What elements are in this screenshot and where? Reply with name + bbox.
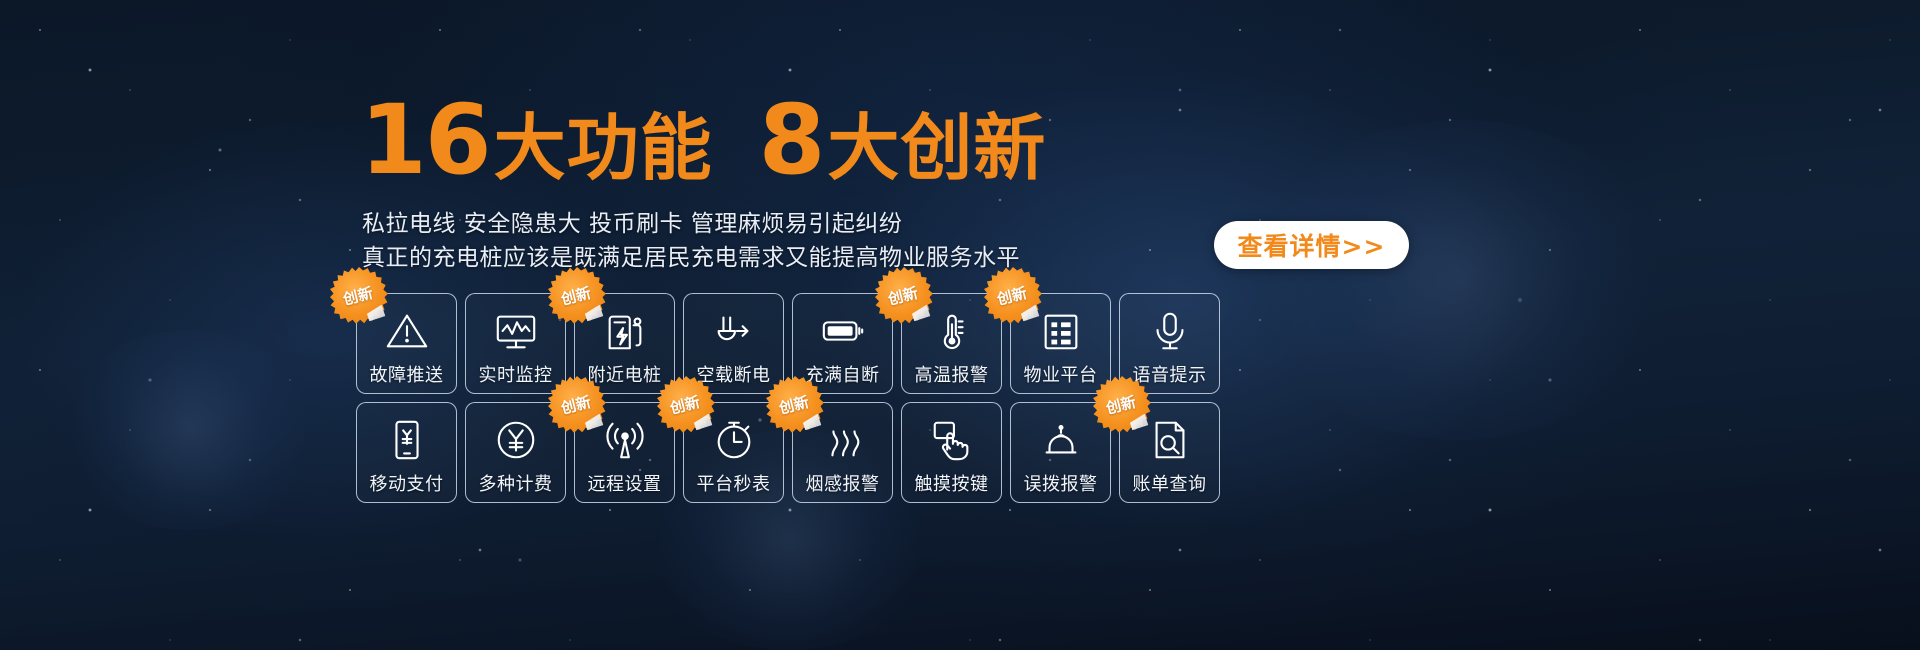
feature-card-label: 空载断电 xyxy=(697,361,771,387)
battery-full-icon xyxy=(820,308,866,354)
feature-card-label: 高温报警 xyxy=(915,361,989,387)
feature-card[interactable]: 空载断电 xyxy=(683,293,784,394)
smoke-sensor-icon xyxy=(820,417,866,463)
badge-fold-icon xyxy=(802,414,822,431)
thermometer-icon xyxy=(929,308,975,354)
starburst-icon xyxy=(330,267,388,325)
badge-fold-icon xyxy=(584,414,604,431)
mobile-payment-icon xyxy=(384,417,430,463)
feature-card-label: 远程设置 xyxy=(588,470,662,496)
feature-card[interactable]: 创新远程设置 xyxy=(574,402,675,503)
feature-card[interactable]: 充满自断 xyxy=(792,293,893,394)
feature-card[interactable]: 创新物业平台 xyxy=(1010,293,1111,394)
nebula-glow xyxy=(1250,120,1670,440)
alarm-bell-icon xyxy=(1038,417,1084,463)
feature-card-label: 多种计费 xyxy=(479,470,553,496)
badge-fold-icon xyxy=(911,305,931,322)
monitor-waveform-icon xyxy=(493,308,539,354)
feature-card[interactable]: 多种计费 xyxy=(465,402,566,503)
touch-hand-icon xyxy=(929,417,975,463)
feature-card-label: 误拨报警 xyxy=(1024,470,1098,496)
promo-banner: 16 大功能 8 大创新 私拉电线 安全隐患大 投币刷卡 管理麻烦易引起纠纷 真… xyxy=(0,0,1920,650)
bill-search-icon xyxy=(1147,417,1193,463)
innovation-badge: 创新 xyxy=(330,267,388,325)
nebula-glow xyxy=(60,330,320,530)
feature-card-label: 故障推送 xyxy=(370,361,444,387)
feature-card-label: 触摸按键 xyxy=(915,470,989,496)
feature-card-label: 平台秒表 xyxy=(697,470,771,496)
stopwatch-icon xyxy=(711,417,757,463)
headline-innovation-label: 大创新 xyxy=(827,112,1046,184)
feature-card-label: 充满自断 xyxy=(806,361,880,387)
feature-card[interactable]: 创新烟感报警 xyxy=(792,402,893,503)
feature-card[interactable]: 误拨报警 xyxy=(1010,402,1111,503)
view-details-button[interactable]: 查看详情>> xyxy=(1214,221,1409,269)
view-details-label: 查看详情>> xyxy=(1238,227,1386,263)
feature-card[interactable]: 触摸按键 xyxy=(901,402,1002,503)
warning-triangle-icon xyxy=(384,308,430,354)
feature-card-label: 烟感报警 xyxy=(806,470,880,496)
feature-card[interactable]: 创新账单查询 xyxy=(1119,402,1220,503)
subtitle-line-1: 私拉电线 安全隐患大 投币刷卡 管理麻烦易引起纠纷 xyxy=(362,207,1020,241)
badge-fold-icon xyxy=(1129,414,1149,431)
headline-function-label: 大功能 xyxy=(494,112,713,184)
headline-function-count: 16 xyxy=(360,92,490,188)
subtitle-block: 私拉电线 安全隐患大 投币刷卡 管理麻烦易引起纠纷 真正的充电桩应该是既满足居民… xyxy=(362,207,1020,275)
feature-card[interactable]: 实时监控 xyxy=(465,293,566,394)
yuan-coin-icon xyxy=(493,417,539,463)
feature-card[interactable]: 创新故障推送 xyxy=(356,293,457,394)
feature-grid: 创新故障推送实时监控创新附近电桩空载断电充满自断创新高温报警创新物业平台语音提示… xyxy=(356,293,1220,503)
feature-row-2: 移动支付多种计费创新远程设置创新平台秒表创新烟感报警触摸按键误拨报警创新账单查询 xyxy=(356,402,1220,503)
badge-fold-icon xyxy=(584,305,604,322)
badge-fold-icon xyxy=(693,414,713,431)
feature-card-label: 移动支付 xyxy=(370,470,444,496)
subtitle-line-2: 真正的充电桩应该是既满足居民充电需求又能提高物业服务水平 xyxy=(362,241,1020,275)
feature-card-label: 实时监控 xyxy=(479,361,553,387)
headline: 16 大功能 8 大创新 xyxy=(360,92,1046,188)
feature-card[interactable]: 移动支付 xyxy=(356,402,457,503)
feature-row-1: 创新故障推送实时监控创新附近电桩空载断电充满自断创新高温报警创新物业平台语音提示 xyxy=(356,293,1220,394)
feature-card[interactable]: 创新高温报警 xyxy=(901,293,1002,394)
feature-card-label: 语音提示 xyxy=(1133,361,1207,387)
badge-fold-icon xyxy=(1020,305,1040,322)
feature-card-label: 附近电桩 xyxy=(588,361,662,387)
feature-card-label: 物业平台 xyxy=(1024,361,1098,387)
feature-card-label: 账单查询 xyxy=(1133,470,1207,496)
feature-card[interactable]: 创新附近电桩 xyxy=(574,293,675,394)
feature-card[interactable]: 语音提示 xyxy=(1119,293,1220,394)
microphone-icon xyxy=(1147,308,1193,354)
building-icon xyxy=(1038,308,1084,354)
badge-fold-icon xyxy=(366,305,386,322)
wireless-signal-icon xyxy=(602,417,648,463)
headline-innovation-count: 8 xyxy=(759,92,824,188)
feature-card[interactable]: 创新平台秒表 xyxy=(683,402,784,503)
charging-pile-icon xyxy=(602,308,648,354)
plug-power-off-icon xyxy=(711,308,757,354)
